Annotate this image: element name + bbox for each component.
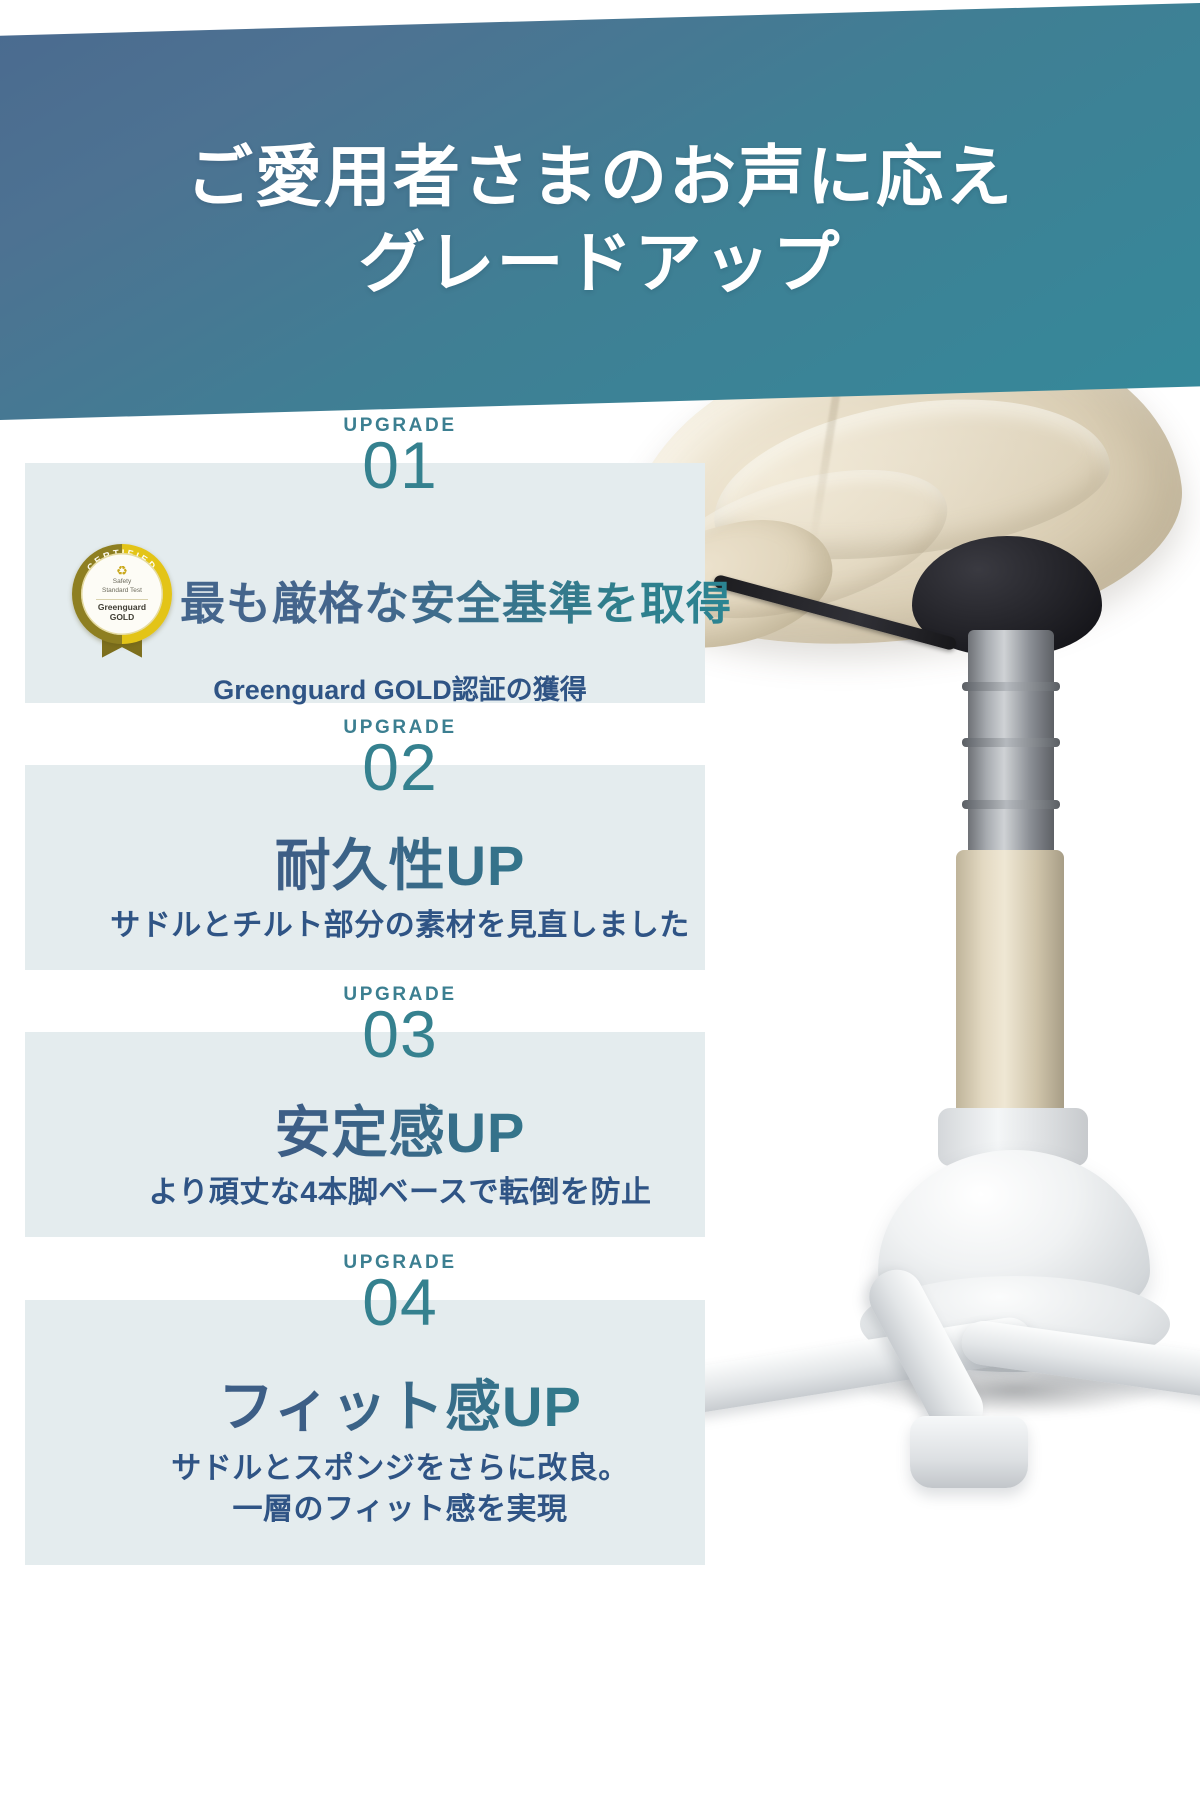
upgrade-subtitle-02: サドルとチルト部分の素材を見直しました <box>0 906 800 947</box>
upgrade-title-01: 最も厳格な安全基準を取得 <box>180 567 732 632</box>
recycle-icon: ♻ <box>116 564 128 577</box>
badge-brand-line2: GOLD <box>110 613 135 623</box>
upgrade-number-04: 04 <box>0 1270 800 1335</box>
upgrade-title-03: 安定感UP <box>0 1101 800 1165</box>
badge-divider <box>96 599 148 600</box>
page-canvas: ご愛用者さまのお声に応え グレードアップ UPGRADE 01 <box>0 0 1200 1797</box>
upgrade-number-02: 02 <box>0 735 800 800</box>
upgrade-section-03: UPGRADE 03 安定感UP より頑丈な4本脚ベースで転倒を防止 <box>0 984 800 1214</box>
upgrade-section-04: UPGRADE 04 フィット感UP サドルとスポンジをさらに改良。 一層のフィ… <box>0 1252 800 1530</box>
upgrade-subtitle-04-line2: 一層のフィット感を実現 <box>0 1490 800 1531</box>
upgrade-section-01: UPGRADE 01 CERTIFIED CERTIFIED <box>0 415 800 707</box>
upgrade-number-01: 01 <box>0 433 800 498</box>
upgrade-list: UPGRADE 01 CERTIFIED CERTIFIED <box>0 0 1200 1797</box>
badge-brand-line1: Greenguard <box>98 603 146 613</box>
upgrade-subtitle-03: より頑丈な4本脚ベースで転倒を防止 <box>0 1173 800 1214</box>
badge-safety-line2: Standard Test <box>102 587 142 595</box>
upgrade-section-02: UPGRADE 02 耐久性UP サドルとチルト部分の素材を見直しました <box>0 717 800 947</box>
upgrade-title-04: フィット感UP <box>0 1375 800 1439</box>
upgrade-number-03: 03 <box>0 1002 800 1067</box>
upgrade-subtitle-01: Greenguard GOLD認証の獲得 <box>0 668 800 707</box>
upgrade-subtitle-04-line1: サドルとスポンジをさらに改良。 <box>0 1449 800 1490</box>
badge-inner-disc: ♻ Safety Standard Test Greenguard GOLD <box>81 553 163 635</box>
upgrade-01-headline-row: CERTIFIED CERTIFIED ♻ Safety Standard Te… <box>0 540 800 660</box>
upgrade-title-02: 耐久性UP <box>0 834 800 898</box>
badge-safety-line1: Safety <box>113 578 131 586</box>
greenguard-gold-badge: CERTIFIED CERTIFIED ♻ Safety Standard Te… <box>68 540 176 660</box>
